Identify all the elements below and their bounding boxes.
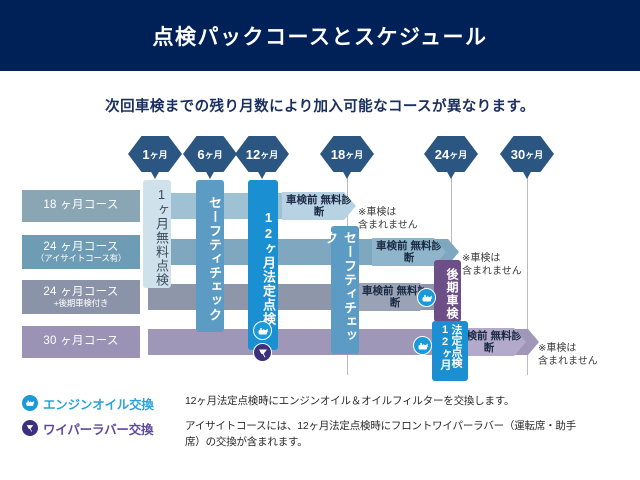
- badge-num-30: 30: [511, 147, 525, 162]
- milestone-badge-12: 12ヶ月: [235, 136, 289, 178]
- badge-num-12: 12: [246, 147, 260, 162]
- legend-item-wiper-rubber: ワイパーラバー交換 アイサイトコースには、12ヶ月法定点検時にフロントワイパーラ…: [22, 419, 622, 451]
- milestone-badge-18: 18ヶ月: [320, 136, 374, 178]
- badge-tail-12: [257, 170, 267, 179]
- badge-unit-30: ヶ月: [525, 148, 543, 161]
- badge-tail-1: [150, 170, 160, 179]
- milestone-block-6month: セーフティチェック: [196, 180, 224, 332]
- badge-unit-12: ヶ月: [260, 148, 278, 161]
- badge-num-24: 24: [435, 147, 449, 162]
- exclusion-note-2: ※車検は 含まれません: [462, 238, 522, 279]
- wiper-icon: [22, 420, 38, 436]
- milestone-text: 12ヶ月法定点検: [259, 210, 278, 326]
- milestone-block-18month: セーフティチェック: [331, 226, 359, 354]
- milestone-block-12month-legal: 法定点検 12ヶ月: [432, 321, 468, 381]
- legend-description: アイサイトコースには、12ヶ月法定点検時にフロントワイパーラバー（運転席・助手席…: [185, 419, 590, 451]
- exclusion-note-text: ※車検は 含まれません: [538, 343, 598, 368]
- exclusion-note-1: ※車検は 含まれません: [358, 192, 418, 233]
- legend-description: 12ヶ月法定点検時にエンジンオイル＆オイルフィルターを交換します。: [185, 394, 514, 410]
- milestone-text: セーフティチェック: [205, 196, 224, 322]
- milestone-badge-6: 6ヶ月: [183, 136, 237, 178]
- course-label-text: 30 ヶ月コース: [43, 335, 118, 348]
- course-label-24-late: 24 ヶ月コース +後期車検付き: [22, 280, 140, 314]
- course-label-24-eyesight: 24 ヶ月コース （アイサイトコース有）: [22, 235, 140, 269]
- course-label-text: 24 ヶ月コース: [43, 286, 118, 299]
- oil-can-icon: [22, 395, 38, 411]
- milestone-text-a: 法定点検: [450, 324, 461, 381]
- badge-unit-1: ヶ月: [150, 148, 168, 161]
- page-header: 点検パックコースとスケジュール: [0, 0, 640, 71]
- badge-tail-24: [446, 170, 456, 179]
- milestone-badge-24: 24ヶ月: [424, 136, 478, 178]
- badge-unit-18: ヶ月: [345, 148, 363, 161]
- badge-num-6: 6: [197, 147, 204, 162]
- milestone-block-1month: 1ヶ月無料点検: [143, 180, 171, 288]
- oil-can-icon: [417, 288, 436, 307]
- badge-unit-6: ヶ月: [205, 148, 223, 161]
- exclusion-note-3: ※車検は 含まれません: [538, 328, 598, 369]
- badge-num-18: 18: [331, 147, 345, 162]
- milestone-block-late-inspection: 後期車検: [434, 260, 461, 322]
- course-label-subtext: （アイサイトコース有）: [36, 254, 126, 264]
- pre-inspection-text: 車検前 無料診断: [282, 194, 356, 218]
- infographic-root: 点検パックコースとスケジュール 次回車検までの残り月数により加入可能なコースが異…: [0, 0, 640, 480]
- badge-tail-30: [522, 170, 532, 179]
- milestone-badge-1: 1ヶ月: [128, 136, 182, 178]
- legend-label: ワイパーラバー交換: [43, 419, 185, 438]
- badge-num-1: 1: [142, 147, 149, 162]
- milestone-text: セーフティチェック: [321, 231, 359, 354]
- course-label-18: 18 ヶ月コース: [22, 190, 140, 222]
- course-label-text: 18 ヶ月コース: [43, 199, 118, 212]
- oil-can-icon: [253, 321, 272, 340]
- wiper-icon: [253, 343, 272, 362]
- exclusion-note-text: ※車検は 含まれません: [462, 253, 522, 278]
- legend: エンジンオイル交換 12ヶ月法定点検時にエンジンオイル＆オイルフィルターを交換し…: [22, 394, 622, 457]
- milestone-badge-30: 30ヶ月: [500, 136, 554, 178]
- milestone-text: 後期車検: [444, 268, 461, 320]
- badge-unit-24: ヶ月: [449, 148, 467, 161]
- exclusion-note-text: ※車検は 含まれません: [358, 207, 418, 232]
- badge-tail-6: [205, 170, 215, 179]
- page-title: 点検パックコースとスケジュール: [153, 21, 488, 51]
- course-label-subtext: +後期車検付き: [54, 299, 109, 309]
- schedule-chart: 1ヶ月 6ヶ月 12ヶ月 18ヶ月 24ヶ月 30ヶ月 18 ヶ月コース: [0, 136, 640, 381]
- oil-can-icon: [413, 336, 432, 355]
- milestone-text: 1ヶ月無料点検: [152, 187, 171, 287]
- badge-tail-18: [342, 170, 352, 179]
- legend-item-engine-oil: エンジンオイル交換 12ヶ月法定点検時にエンジンオイル＆オイルフィルターを交換し…: [22, 394, 622, 413]
- subtitle: 次回車検までの残り月数により加入可能なコースが異なります。: [0, 95, 640, 116]
- pre-inspection-tag-1: 車検前 無料診断: [282, 192, 356, 220]
- milestone-text-b: 12ヶ月: [439, 324, 450, 381]
- course-label-text: 24 ヶ月コース: [43, 241, 118, 254]
- legend-label: エンジンオイル交換: [43, 394, 185, 413]
- course-label-30: 30 ヶ月コース: [22, 326, 140, 358]
